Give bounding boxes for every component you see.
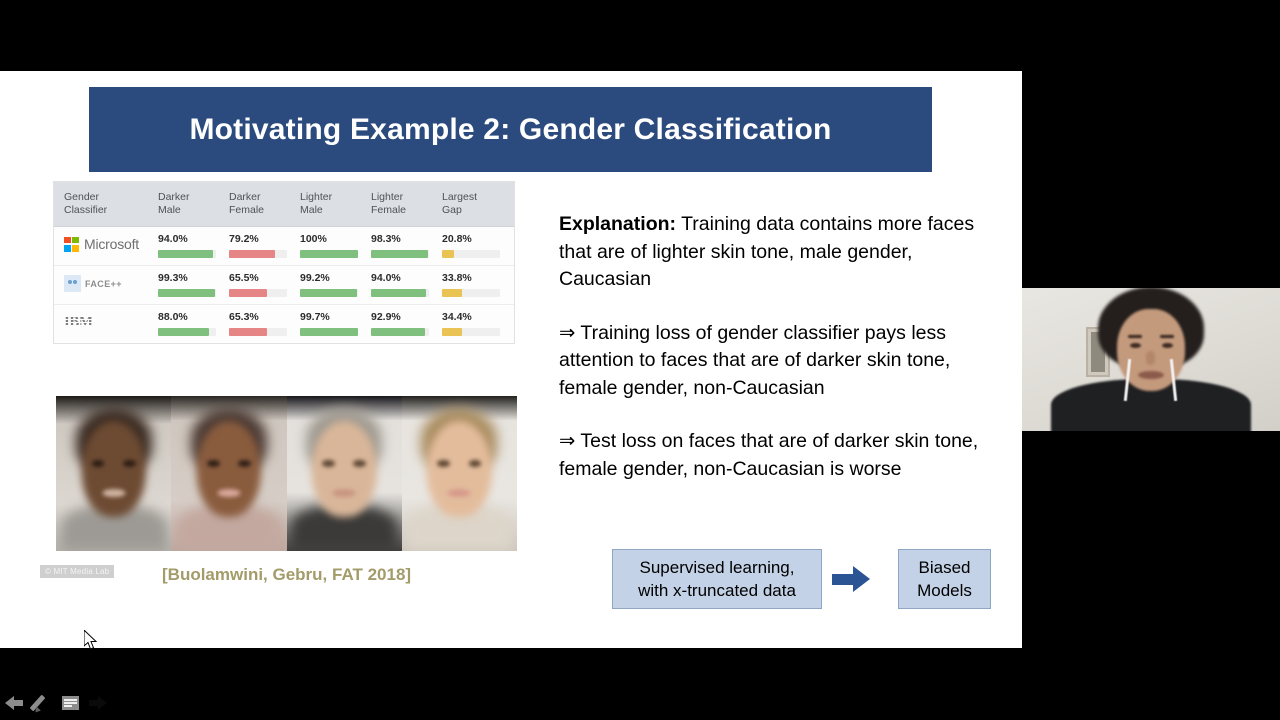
column-header-largest-gap: Largest Gap [442, 182, 514, 226]
cell-lighter-female: 94.0% [371, 266, 442, 304]
bar-track [442, 328, 500, 336]
darker-male-composite [56, 396, 171, 551]
cell-lighter-male: 99.2% [300, 266, 371, 304]
bar-track [300, 250, 358, 258]
bar-fill [371, 250, 428, 258]
page-title: Motivating Example 2: Gender Classificat… [189, 113, 831, 147]
table-row: Microsoft 94.0% 79.2% 100% 98.3% [54, 227, 514, 266]
faceplusplus-logo: FACE++ [54, 266, 158, 301]
next-slide-icon[interactable] [89, 693, 109, 713]
notes-icon[interactable] [61, 693, 81, 713]
composite-faces-figure [56, 396, 517, 551]
explanation-column: Explanation: Training data contains more… [559, 211, 1009, 483]
previous-slide-icon[interactable] [5, 693, 25, 713]
figure-citation: [Buolamwini, Gebru, FAT 2018] [162, 565, 411, 585]
bar-fill [158, 328, 209, 336]
bar-fill [442, 289, 462, 297]
cell-largest-gap: 20.8% [442, 227, 514, 265]
flow-diagram: Supervised learning, with x-truncated da… [612, 549, 991, 609]
cell-darker-female: 65.5% [229, 266, 300, 304]
darker-female-composite [171, 396, 286, 551]
presenter-webcam[interactable] [1022, 285, 1280, 435]
column-header-darker-female: Darker Female [229, 182, 300, 226]
flow-box-biased-models: Biased Models [898, 549, 991, 609]
cell-lighter-female: 92.9% [371, 305, 442, 343]
right-arrow-icon [832, 566, 870, 592]
cell-darker-female: 79.2% [229, 227, 300, 265]
column-header-classifier: Gender Classifier [54, 182, 158, 226]
bar-track [371, 289, 429, 297]
cell-darker-female: 65.3% [229, 305, 300, 343]
cell-largest-gap: 34.4% [442, 305, 514, 343]
face-bracket-icon [64, 275, 81, 292]
table-header-row: Gender Classifier Darker Male Darker Fem… [54, 182, 514, 227]
cell-lighter-female: 98.3% [371, 227, 442, 265]
presenter-eye-left [1130, 343, 1141, 348]
table-row: IBM 88.0% 65.3% 99.7% 92.9% [54, 305, 514, 343]
presentation-slide: Motivating Example 2: Gender Classificat… [0, 71, 1022, 648]
bar-track [300, 328, 358, 336]
mit-media-lab-watermark: © MIT Media Lab [40, 565, 114, 578]
microsoft-squares-icon [64, 237, 79, 252]
column-header-lighter-female: Lighter Female [371, 182, 442, 226]
cell-darker-male: 94.0% [158, 227, 229, 265]
microsoft-logo: Microsoft [54, 227, 158, 261]
bar-fill [371, 328, 425, 336]
column-header-lighter-male: Lighter Male [300, 182, 371, 226]
bar-fill [158, 289, 215, 297]
slide-title-bar: Motivating Example 2: Gender Classificat… [89, 87, 932, 172]
bar-fill [300, 289, 357, 297]
pen-tool-icon[interactable] [33, 693, 53, 713]
bar-fill [442, 250, 454, 258]
presenter-eyebrow-right [1160, 335, 1174, 338]
bar-track [229, 250, 287, 258]
flow-box-supervised-learning: Supervised learning, with x-truncated da… [612, 549, 822, 609]
ibm-logo: IBM [54, 305, 158, 340]
bar-track [300, 289, 358, 297]
bar-fill [300, 328, 358, 336]
webcam-letterbox-top [1022, 285, 1280, 288]
bar-track [158, 250, 216, 258]
lighter-female-composite [402, 396, 517, 551]
presenter-eye-right [1162, 343, 1173, 348]
bar-track [229, 289, 287, 297]
screen-root: Motivating Example 2: Gender Classificat… [0, 0, 1280, 720]
bar-track [371, 328, 429, 336]
lighter-male-composite [287, 396, 402, 551]
webcam-letterbox-bottom [1022, 431, 1280, 435]
presenter-mouth [1138, 371, 1164, 379]
cell-darker-male: 99.3% [158, 266, 229, 304]
presenter-nose [1146, 351, 1155, 365]
table-row: FACE++ 99.3% 65.5% 99.2% 94.0% [54, 266, 514, 305]
bar-track [158, 328, 216, 336]
bar-track [442, 289, 500, 297]
bar-fill [158, 250, 213, 258]
classifier-name: IBM [64, 314, 93, 331]
gender-classifier-results-table: Gender Classifier Darker Male Darker Fem… [53, 181, 515, 344]
bar-track [229, 328, 287, 336]
bar-track [371, 250, 429, 258]
bar-fill [371, 289, 426, 297]
explanation-label: Explanation: [559, 213, 676, 235]
bar-track [158, 289, 216, 297]
training-loss-paragraph: ⇒ Training loss of gender classifier pay… [559, 320, 1009, 403]
bar-fill [229, 289, 267, 297]
bar-fill [300, 250, 358, 258]
presenter-eyebrow-left [1128, 335, 1142, 338]
explanation-paragraph: Explanation: Training data contains more… [559, 211, 1009, 294]
bar-fill [229, 250, 275, 258]
bar-fill [229, 328, 267, 336]
cell-lighter-male: 99.7% [300, 305, 371, 343]
slide-toolbar [5, 693, 109, 713]
classifier-name: FACE++ [85, 279, 122, 289]
bar-track [442, 250, 500, 258]
cell-lighter-male: 100% [300, 227, 371, 265]
column-header-darker-male: Darker Male [158, 182, 229, 226]
classifier-name: Microsoft [84, 236, 139, 252]
cell-largest-gap: 33.8% [442, 266, 514, 304]
bar-fill [442, 328, 462, 336]
test-loss-paragraph: ⇒ Test loss on faces that are of darker … [559, 428, 1009, 483]
cell-darker-male: 88.0% [158, 305, 229, 343]
